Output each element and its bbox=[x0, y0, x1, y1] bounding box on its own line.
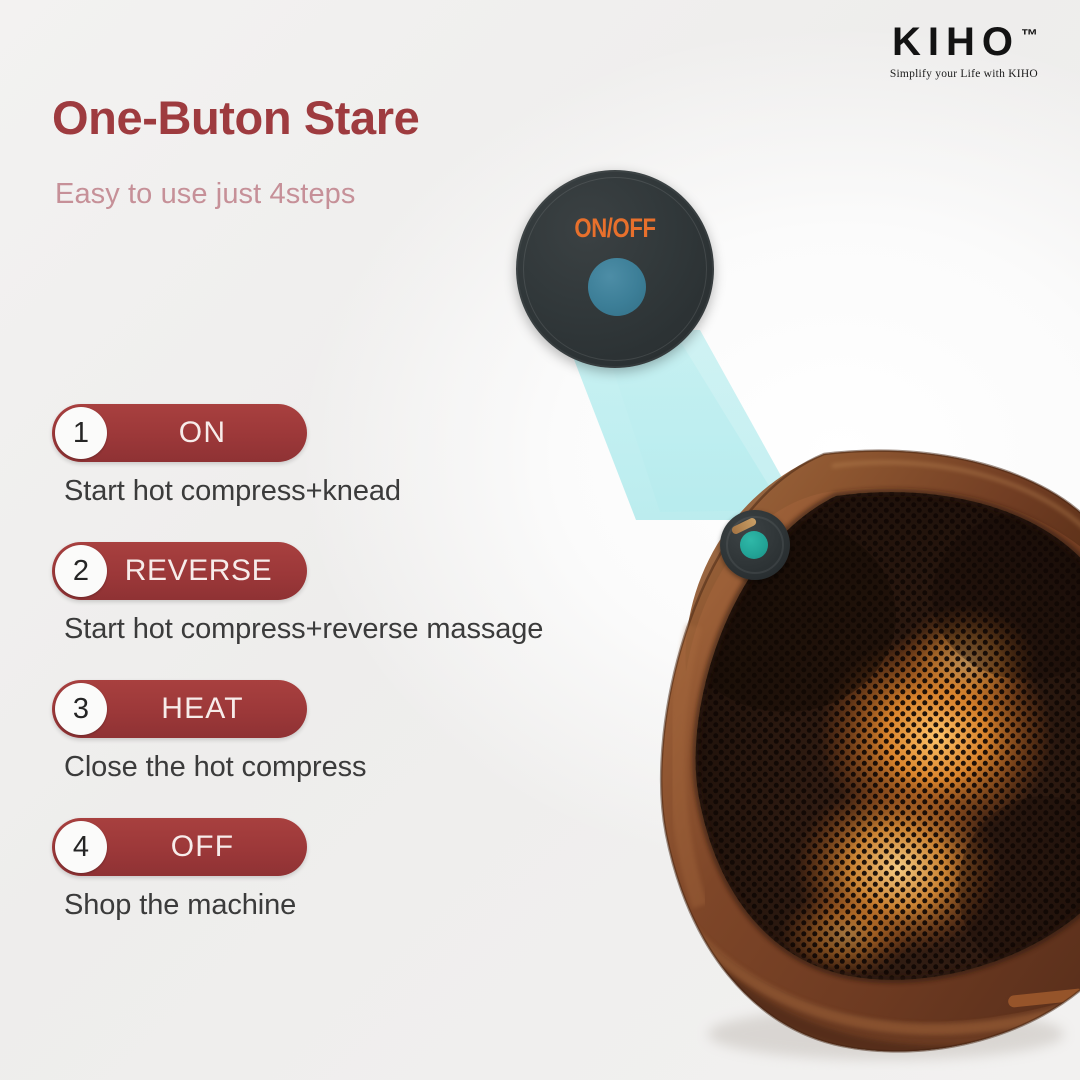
step-caption: Close the hot compress bbox=[64, 751, 692, 784]
step-number-badge: 2 bbox=[55, 545, 107, 597]
product-power-button-icon[interactable] bbox=[720, 510, 790, 580]
step-label: REVERSE bbox=[102, 554, 295, 588]
step-caption: Shop the machine bbox=[64, 889, 692, 922]
step-label: OFF bbox=[110, 830, 295, 864]
brand-name-text: KIHO bbox=[892, 20, 1020, 64]
step-label: ON bbox=[110, 416, 295, 450]
product-image-massage-pillow bbox=[636, 436, 1080, 1076]
step-caption: Start hot compress+reverse massage bbox=[64, 613, 692, 646]
step-pill-off[interactable]: 4 OFF bbox=[52, 818, 307, 876]
power-knob-icon[interactable] bbox=[588, 258, 646, 316]
steps-list: 1 ON Start hot compress+knead 2 REVERSE … bbox=[52, 404, 692, 922]
trademark-icon: ™ bbox=[1021, 26, 1038, 45]
step-caption: Start hot compress+knead bbox=[64, 475, 692, 508]
step-number-badge: 3 bbox=[55, 683, 107, 735]
step-number-badge: 1 bbox=[55, 407, 107, 459]
step-number-badge: 4 bbox=[55, 821, 107, 873]
step-pill-on[interactable]: 1 ON bbox=[52, 404, 307, 462]
step-pill-heat[interactable]: 3 HEAT bbox=[52, 680, 307, 738]
brand-tagline: Simplify your Life with KIHO bbox=[890, 69, 1038, 81]
step-label: HEAT bbox=[110, 692, 295, 726]
brand-logo: KIHO™ Simplify your Life with KIHO bbox=[890, 22, 1038, 81]
list-item: 3 HEAT Close the hot compress bbox=[52, 680, 692, 784]
list-item: 2 REVERSE Start hot compress+reverse mas… bbox=[52, 542, 692, 646]
onoff-label: ON/OFF bbox=[534, 213, 696, 244]
list-item: 4 OFF Shop the machine bbox=[52, 818, 692, 922]
step-pill-reverse[interactable]: 2 REVERSE bbox=[52, 542, 307, 600]
onoff-button-callout[interactable]: ON/OFF bbox=[516, 170, 714, 368]
page-subtitle: Easy to use just 4steps bbox=[55, 178, 356, 211]
brand-name: KIHO™ bbox=[890, 22, 1038, 62]
infographic-canvas: ON/OFF KIHO™ Simplify your Life with KIH… bbox=[0, 0, 1080, 1080]
product-power-button-knob bbox=[740, 531, 768, 559]
list-item: 1 ON Start hot compress+knead bbox=[52, 404, 692, 508]
page-title: One-Buton Stare bbox=[52, 90, 419, 145]
